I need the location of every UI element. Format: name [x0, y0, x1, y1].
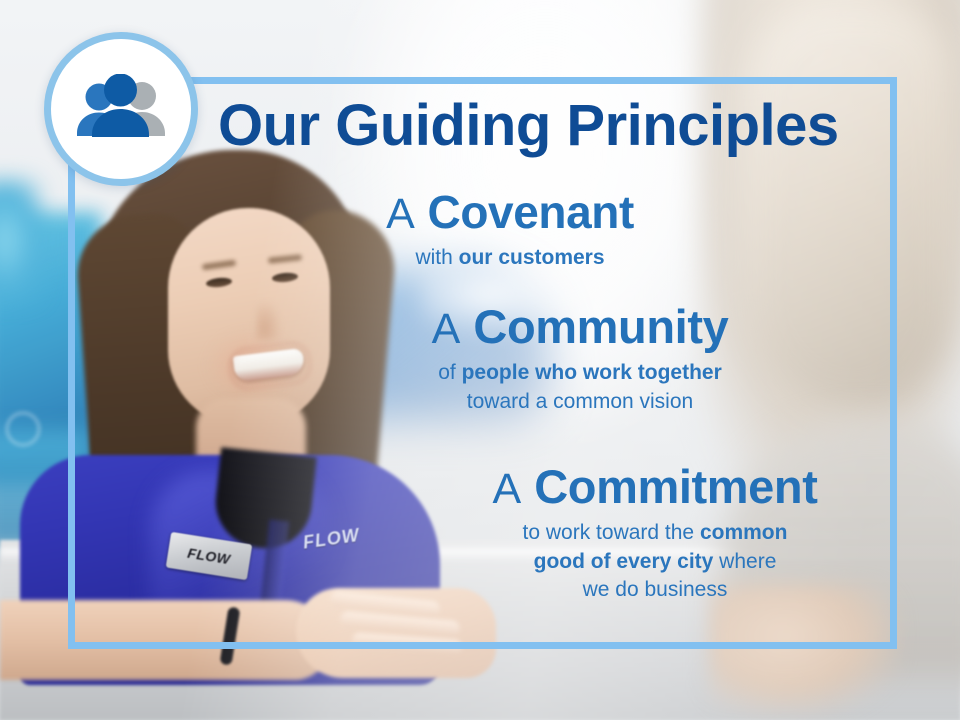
principle-article: A — [386, 190, 415, 238]
guiding-principles-graphic: FLOW FLOW — [0, 0, 960, 720]
nose — [256, 300, 282, 340]
principle-subtext: with our customers — [340, 244, 680, 273]
principle-word: Covenant — [428, 186, 634, 238]
subtext-run: to work toward the — [523, 521, 700, 544]
subtext-run: with — [415, 246, 458, 269]
subtext-emphasis: common — [700, 521, 788, 544]
principle-word: Commitment — [534, 460, 817, 513]
principle-subtext: to work toward the commongood of every c… — [430, 519, 880, 605]
principle-article: A — [493, 465, 522, 513]
people-group-icon — [71, 74, 171, 144]
principle-community: A Community of people who work togethert… — [380, 302, 780, 416]
forearm — [0, 600, 330, 680]
subtext-emphasis: good of every city — [534, 550, 714, 573]
principle-subtext: of people who work togethertoward a comm… — [380, 359, 780, 416]
principle-commitment: A Commitment to work toward the commongo… — [430, 462, 880, 605]
name-badge-logo-text: FLOW — [187, 546, 232, 567]
principle-word: Community — [473, 300, 728, 353]
principle-heading: A Covenant — [340, 188, 680, 237]
people-group-icon-badge — [44, 32, 198, 186]
subtext-run: of — [438, 361, 461, 384]
principle-heading: A Community — [380, 302, 780, 352]
subtext-run: we do business — [583, 578, 728, 601]
principle-article: A — [432, 305, 461, 353]
page-title: Our Guiding Principles — [218, 96, 858, 156]
subtext-run: toward a common vision — [467, 390, 693, 413]
principle-heading: A Commitment — [430, 462, 880, 512]
foreground-customer-hair — [750, 8, 950, 408]
subtext-emphasis: people who work together — [462, 361, 722, 384]
principle-covenant: A Covenant with our customers — [340, 188, 680, 273]
subtext-run: where — [713, 550, 776, 573]
subtext-emphasis: our customers — [459, 246, 605, 269]
